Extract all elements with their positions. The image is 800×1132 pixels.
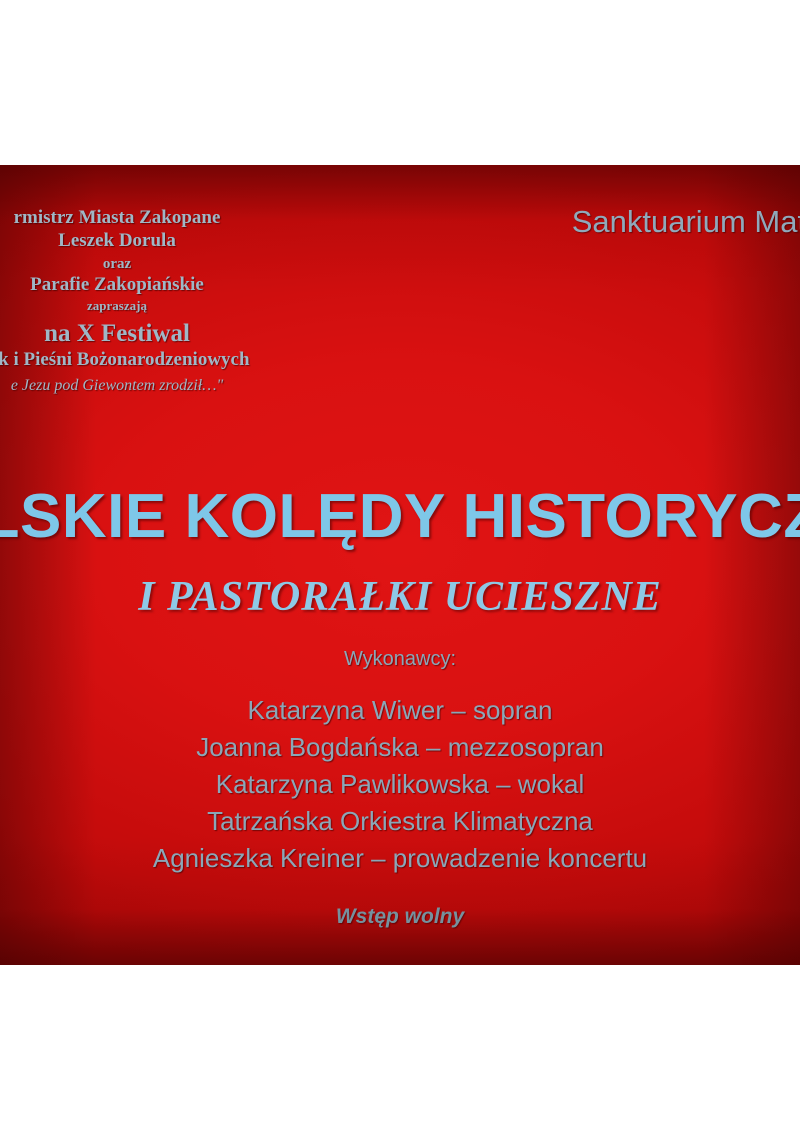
performer-item: Joanna Bogdańska – mezzosopran	[0, 729, 800, 766]
poster-page: rmistrz Miasta Zakopane Leszek Dorula or…	[0, 0, 800, 1132]
performer-item: Katarzyna Pawlikowska – wokal	[0, 766, 800, 803]
performer-item: Katarzyna Wiwer – sopran	[0, 692, 800, 729]
performers-label: Wykonawcy:	[0, 646, 800, 672]
festival-quote: e Jezu pod Giewontem zrodził…"	[0, 374, 312, 398]
poster-content-layer: rmistrz Miasta Zakopane Leszek Dorula or…	[0, 165, 800, 965]
event-date: 20 styczn	[328, 281, 800, 323]
venue-block: Sanktuarium Matki Bożej Fat ul. Krzeptów…	[328, 203, 800, 396]
venue-name: Sanktuarium Matki Bożej Fat	[328, 203, 800, 240]
organiser-role: rmistrz Miasta Zakopane	[0, 207, 312, 229]
performer-item: Tatrzańska Orkiestra Klimatyczna	[0, 803, 800, 840]
festival-subtitle: lęk i Pieśni Bożonarodzeniowych	[0, 349, 312, 372]
organiser-name: Leszek Dorula	[0, 229, 312, 254]
performers-block: Wykonawcy: Katarzyna Wiwer – sopran Joan…	[0, 646, 800, 877]
organiser-parishes: Parafie Zakopiańskie	[0, 274, 312, 296]
organiser-conjunction: oraz	[0, 254, 312, 274]
organiser-invite-verb: zapraszają	[0, 296, 312, 316]
festival-title: na X Festiwal	[0, 318, 312, 349]
venue-address: ul. Krzeptówki 14	[328, 244, 800, 274]
poster-subheadline: I PASTORAŁKI UCIESZNE	[0, 573, 800, 621]
performer-item: Agnieszka Kreiner – prowadzenie koncertu	[0, 840, 800, 877]
mass-time: msza św.	[328, 329, 800, 358]
concert-poster: rmistrz Miasta Zakopane Leszek Dorula or…	[0, 165, 800, 965]
concert-time-row: koncert oko	[328, 367, 800, 396]
poster-headline: OLSKIE KOLĘDY HISTORYCZN	[0, 481, 800, 552]
organiser-block: rmistrz Miasta Zakopane Leszek Dorula or…	[0, 207, 312, 398]
admission-note: Wstęp wolny	[0, 905, 800, 929]
